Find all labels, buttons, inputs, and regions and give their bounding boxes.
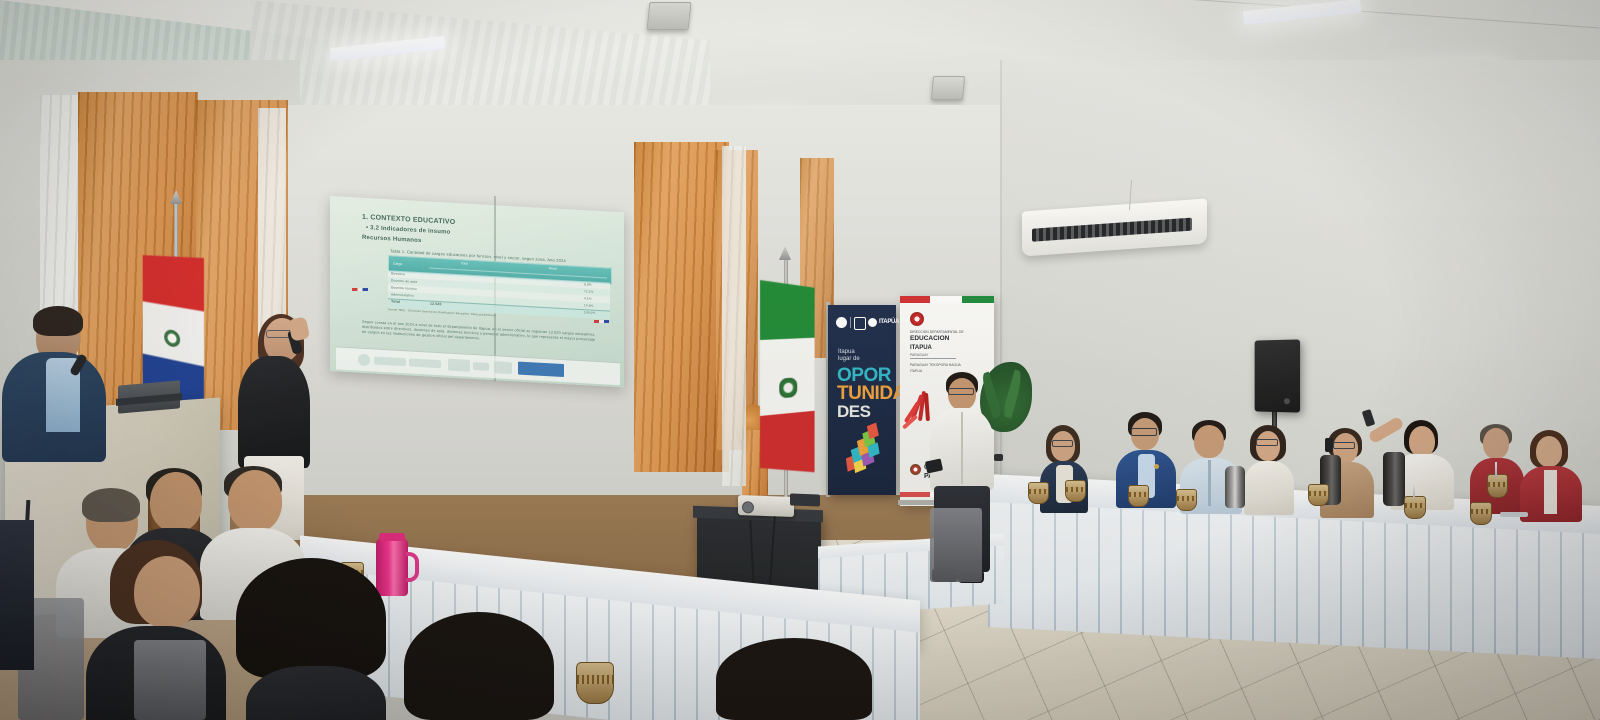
banner-tagline-line1: Itapua [838, 349, 860, 356]
guampa [1487, 474, 1508, 498]
slide-row-total: Total [391, 299, 400, 304]
guampa [1308, 484, 1329, 506]
podium-speaker-hair [33, 306, 83, 336]
guampa [1028, 482, 1049, 504]
banner-word-opor: OPOR [837, 367, 891, 384]
ceiling-speaker [931, 76, 965, 100]
conference-room-photo: 1. CONTEXTO EDUCATIVO • 3.2 Indicadores … [0, 0, 1600, 720]
projector-lens-icon [742, 501, 754, 513]
itapua-coat-of-arms-icon [779, 377, 797, 398]
projector [738, 495, 794, 517]
guampa [1470, 502, 1492, 525]
banner-line3: ITAPUA [910, 345, 932, 351]
slide-table: Cargo Total Rural Directivo Docente de a… [388, 255, 610, 319]
pink-thermos-handle [406, 552, 419, 582]
slide-total-value: 12.620 [430, 302, 442, 307]
slide-th-rural: Rural [549, 266, 557, 270]
slide-th-cargo: Cargo [393, 262, 402, 267]
slide-bullet-text: 3.2 Indicadores de insumo [370, 225, 450, 235]
black-thermos-2 [1383, 452, 1405, 506]
banner-line2: EDUCACION [910, 335, 949, 342]
guampa [1128, 485, 1149, 507]
ceiling-speaker [647, 2, 692, 30]
slide-pct: 4,1% [584, 296, 592, 300]
itapua-wordmark: ITAPÚA [879, 319, 899, 325]
banner-line4: PARAGUAY [910, 353, 928, 357]
banner-line1: DIRECCION DEPARTAMENTAL DE [910, 330, 964, 334]
slide-pct: 14,9% [584, 303, 594, 308]
glasses-icon [1256, 439, 1278, 446]
educacion-logo-icon [374, 356, 406, 366]
slide-subtitle: Recursos Humanos [362, 235, 422, 244]
banner-oportunidades: ITAPÚA Itapua lugar de OPOR TUNIDA DES [828, 305, 896, 495]
glasses-icon [1052, 440, 1073, 447]
slide-content: 1. CONTEXTO EDUCATIVO • 3.2 Indicadores … [330, 196, 624, 390]
cero-logo-icon [448, 359, 470, 372]
seated-woman-white-top [1244, 425, 1294, 501]
curtain-white-center [722, 146, 746, 486]
snpp-logo-icon [494, 361, 512, 374]
speaker-led-icon [1284, 398, 1290, 404]
unesco-logo-icon [409, 358, 441, 368]
paraguay-star-crest-icon [910, 312, 924, 326]
banner-tagline-line2: lugar de [838, 356, 860, 363]
chair [930, 508, 982, 582]
slide-paragraph: Segun consta en el ano 2024 a nivel de t… [362, 320, 600, 349]
glasses-icon [948, 388, 974, 395]
logo-divider [850, 317, 851, 328]
guampa [1065, 480, 1086, 502]
audience-person-foreground [716, 638, 872, 720]
gobierno-paraguay-logo-icon [518, 362, 564, 378]
audience-woman-dark-hair-2 [404, 612, 554, 720]
banner-line5: PARAGUAY TEKOPORA HAGUA [910, 363, 961, 367]
flag-stripe-right-icon [594, 320, 609, 323]
slide-pct: 72,1% [584, 289, 594, 294]
curtain-foreground [0, 520, 34, 670]
banner-tagline: Itapua lugar de [838, 349, 860, 362]
presenter-body [238, 356, 310, 468]
lapel-pin-icon [1154, 464, 1159, 469]
wristwatch-icon [994, 454, 1003, 461]
itapua-flag [760, 280, 815, 480]
banner-word-tunida: TUNIDA [837, 385, 906, 402]
itapua-map-graphic [833, 418, 895, 480]
flag-stripe-left-icon [352, 288, 368, 291]
slide-th-total: Total [461, 261, 468, 265]
shield-logo-icon [854, 317, 866, 330]
slide-title: 1. CONTEXTO EDUCATIVO [362, 214, 455, 226]
slide-row-label: Directivo [391, 271, 405, 276]
chair [134, 640, 206, 720]
bombilla-straw [1495, 462, 1497, 478]
audience-woman-dark-hair-1 [236, 558, 386, 720]
gobierno-crest-icon [910, 464, 921, 475]
mobile-phone-icon [1325, 438, 1333, 452]
itapua-circle-icon [868, 318, 877, 327]
curtain-orange-center [634, 142, 729, 472]
guampa [576, 662, 614, 704]
document-papers [1500, 512, 1528, 517]
projector-case [790, 493, 820, 506]
glasses-icon [1333, 442, 1355, 449]
steel-thermos [1225, 466, 1245, 508]
glasses-icon [1131, 428, 1157, 436]
pa-speaker [1255, 339, 1300, 412]
seated-woman-red-blazer [1520, 430, 1582, 512]
slide-pct: 8,9% [584, 282, 592, 286]
slide-bullet: • 3.2 Indicadores de insumo [366, 225, 451, 236]
mec-logo-icon [358, 354, 370, 367]
itaipu-logo-icon [836, 317, 847, 328]
pink-thermos-lid [379, 533, 405, 541]
banner-line6: ITAPUA [910, 369, 922, 373]
paraguay-seal-icon [164, 329, 180, 349]
sinafocal-logo-icon [473, 362, 489, 371]
banner-rule [910, 358, 956, 359]
slide-pct: 100,0% [584, 310, 595, 315]
banner-word-des: DES [837, 404, 870, 420]
guampa [1404, 496, 1426, 519]
paraguay-stripe [900, 296, 994, 303]
guampa [1176, 489, 1197, 511]
bombilla-straw [1413, 484, 1415, 499]
